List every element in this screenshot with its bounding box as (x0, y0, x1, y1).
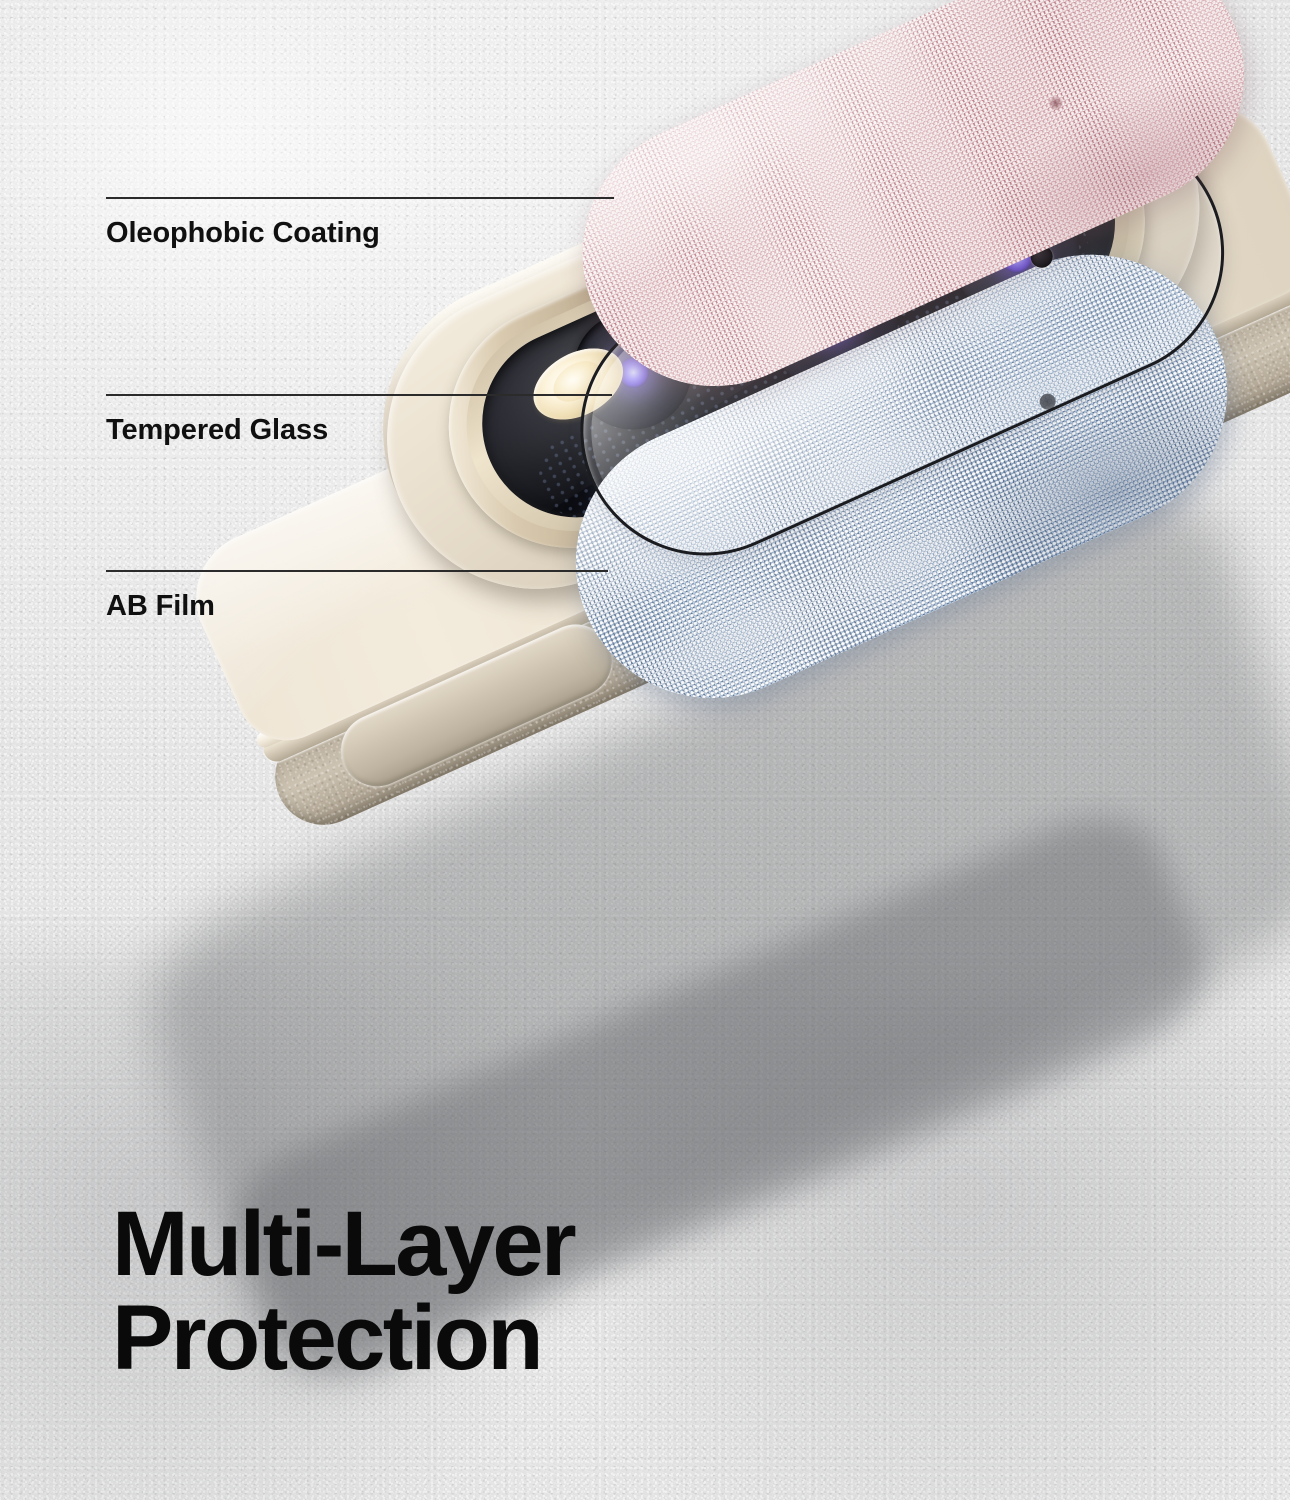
product-feature-graphic: Oleophobic Coating Tempered Glass AB Fil… (0, 0, 1290, 1500)
callout-leader-line (106, 394, 612, 396)
callout-label: AB Film (106, 590, 215, 623)
headline: Multi-Layer Protection (112, 1198, 574, 1386)
callout-label: Tempered Glass (106, 414, 328, 447)
callout-label: Oleophobic Coating (106, 217, 380, 250)
headline-line-1: Multi-Layer (112, 1193, 574, 1295)
callout-leader-line (106, 197, 614, 199)
callout-leader-line (106, 570, 608, 572)
headline-line-2: Protection (112, 1292, 574, 1386)
